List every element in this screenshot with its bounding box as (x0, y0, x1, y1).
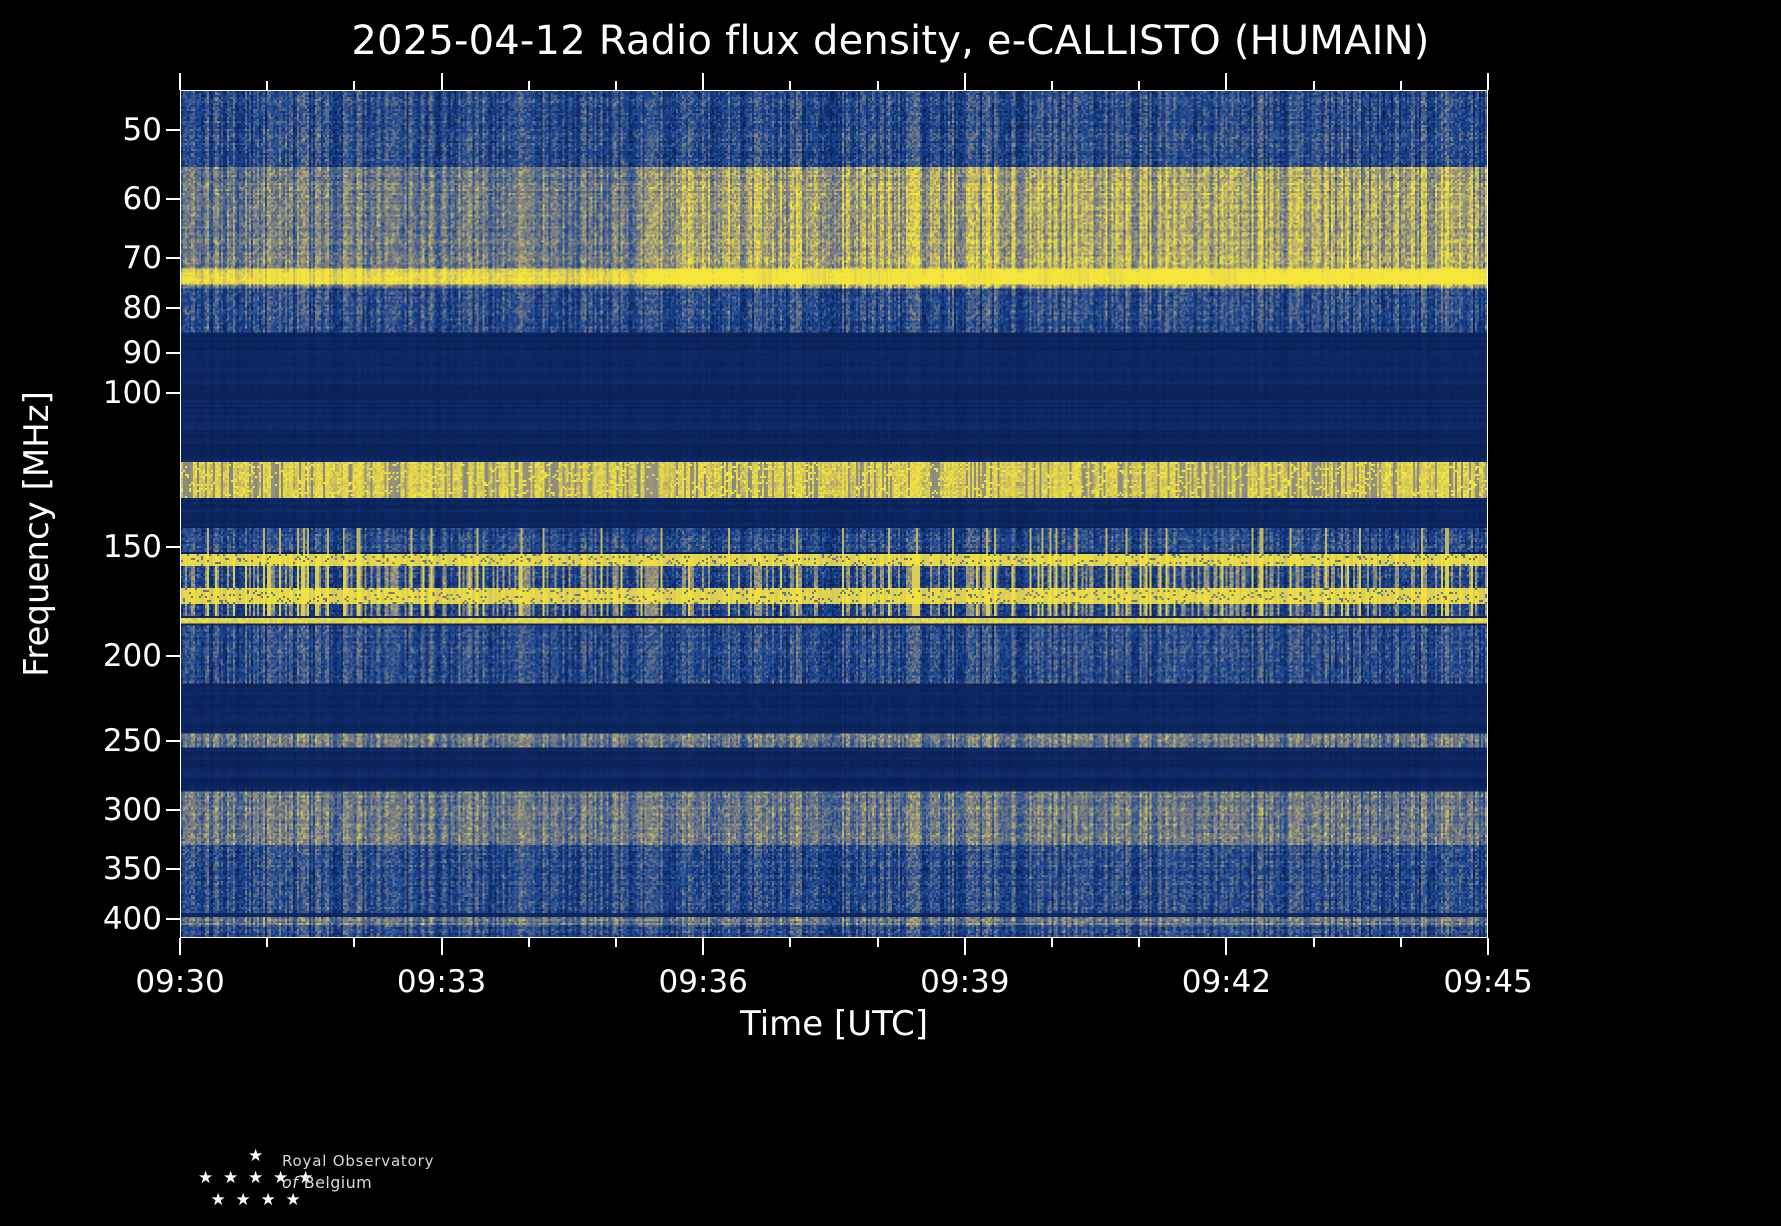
x-tick-mark-top (179, 73, 181, 90)
y-tick-label-150: 150 (0, 529, 162, 565)
x-tick-label-0942: 09:42 (1182, 964, 1271, 1000)
x-tick-label-0930: 09:30 (135, 964, 224, 1000)
y-tick-mark (166, 868, 180, 870)
x-tick-mark (1487, 938, 1489, 955)
y-tick-label-350: 350 (0, 851, 162, 887)
y-tick-mark (166, 546, 180, 548)
x-tick-mark-top (1051, 81, 1053, 90)
logo-line-1: Royal Observatory (282, 1152, 434, 1170)
y-tick-label-250: 250 (0, 723, 162, 759)
x-tick-mark (615, 938, 617, 947)
y-tick-label-100: 100 (0, 375, 162, 411)
logo-of: of (282, 1173, 298, 1192)
y-tick-label-50: 50 (0, 112, 162, 148)
x-tick-label-0945: 09:45 (1443, 964, 1532, 1000)
x-tick-mark-top (789, 81, 791, 90)
x-tick-mark-top (877, 81, 879, 90)
y-tick-mark (166, 392, 180, 394)
spectrogram-figure: 2025-04-12 Radio flux density, e-CALLIST… (0, 0, 1781, 1226)
x-tick-mark (179, 938, 181, 955)
logo-text: Royal Observatory of Belgium (282, 1152, 434, 1192)
x-tick-mark-top (964, 73, 966, 90)
logo-star-icon: ★ (198, 1170, 213, 1187)
x-tick-mark (441, 938, 443, 955)
logo-star-icon: ★ (236, 1192, 251, 1209)
x-tick-mark (1400, 938, 1402, 947)
x-tick-mark-top (1487, 73, 1489, 90)
y-tick-mark (166, 198, 180, 200)
x-tick-mark-top (266, 81, 268, 90)
x-tick-mark (1225, 938, 1227, 955)
y-tick-mark (166, 307, 180, 309)
x-tick-mark (1138, 938, 1140, 947)
x-tick-mark (702, 938, 704, 955)
x-tick-mark (353, 938, 355, 947)
x-tick-mark (877, 938, 879, 947)
x-tick-label-0939: 09:39 (920, 964, 1009, 1000)
x-tick-mark-top (1313, 81, 1315, 90)
y-tick-mark (166, 129, 180, 131)
x-tick-mark (1051, 938, 1053, 947)
x-tick-mark (789, 938, 791, 947)
y-tick-mark (166, 352, 180, 354)
y-tick-label-60: 60 (0, 181, 162, 217)
y-tick-mark (166, 257, 180, 259)
x-tick-mark (964, 938, 966, 955)
y-tick-label-90: 90 (0, 335, 162, 371)
royal-observatory-logo: ★★★★★★★★★★ Royal Observatory of Belgium (178, 1148, 618, 1218)
x-tick-mark (528, 938, 530, 947)
x-tick-mark-top (615, 81, 617, 90)
logo-star-icon: ★ (223, 1170, 238, 1187)
y-tick-mark (166, 809, 180, 811)
logo-star-icon: ★ (286, 1192, 301, 1209)
x-tick-mark-top (702, 73, 704, 90)
x-tick-mark (266, 938, 268, 947)
x-tick-label-0936: 09:36 (659, 964, 748, 1000)
logo-star-icon: ★ (261, 1192, 276, 1209)
y-tick-label-300: 300 (0, 792, 162, 828)
y-tick-label-70: 70 (0, 240, 162, 276)
page-title: 2025-04-12 Radio flux density, e-CALLIST… (0, 18, 1781, 64)
y-tick-label-80: 80 (0, 290, 162, 326)
x-tick-mark-top (528, 81, 530, 90)
y-tick-label-400: 400 (0, 901, 162, 937)
x-tick-mark-top (1138, 81, 1140, 90)
logo-line-2: of Belgium (282, 1173, 434, 1192)
x-tick-mark-top (353, 81, 355, 90)
logo-star-icon: ★ (248, 1170, 263, 1187)
x-tick-mark-top (1400, 81, 1402, 90)
x-axis-label: Time [UTC] (180, 1004, 1488, 1044)
spectrogram-plot-area (180, 90, 1488, 938)
y-tick-label-200: 200 (0, 638, 162, 674)
y-tick-mark (166, 655, 180, 657)
x-tick-mark (1313, 938, 1315, 947)
y-tick-mark (166, 740, 180, 742)
logo-belgium: Belgium (304, 1173, 372, 1192)
x-tick-label-0933: 09:33 (397, 964, 486, 1000)
x-tick-mark-top (1225, 73, 1227, 90)
y-tick-mark (166, 918, 180, 920)
spectrogram-image (181, 91, 1487, 937)
logo-star-icon: ★ (211, 1192, 226, 1209)
logo-star-icon: ★ (248, 1148, 263, 1165)
x-tick-mark-top (441, 73, 443, 90)
